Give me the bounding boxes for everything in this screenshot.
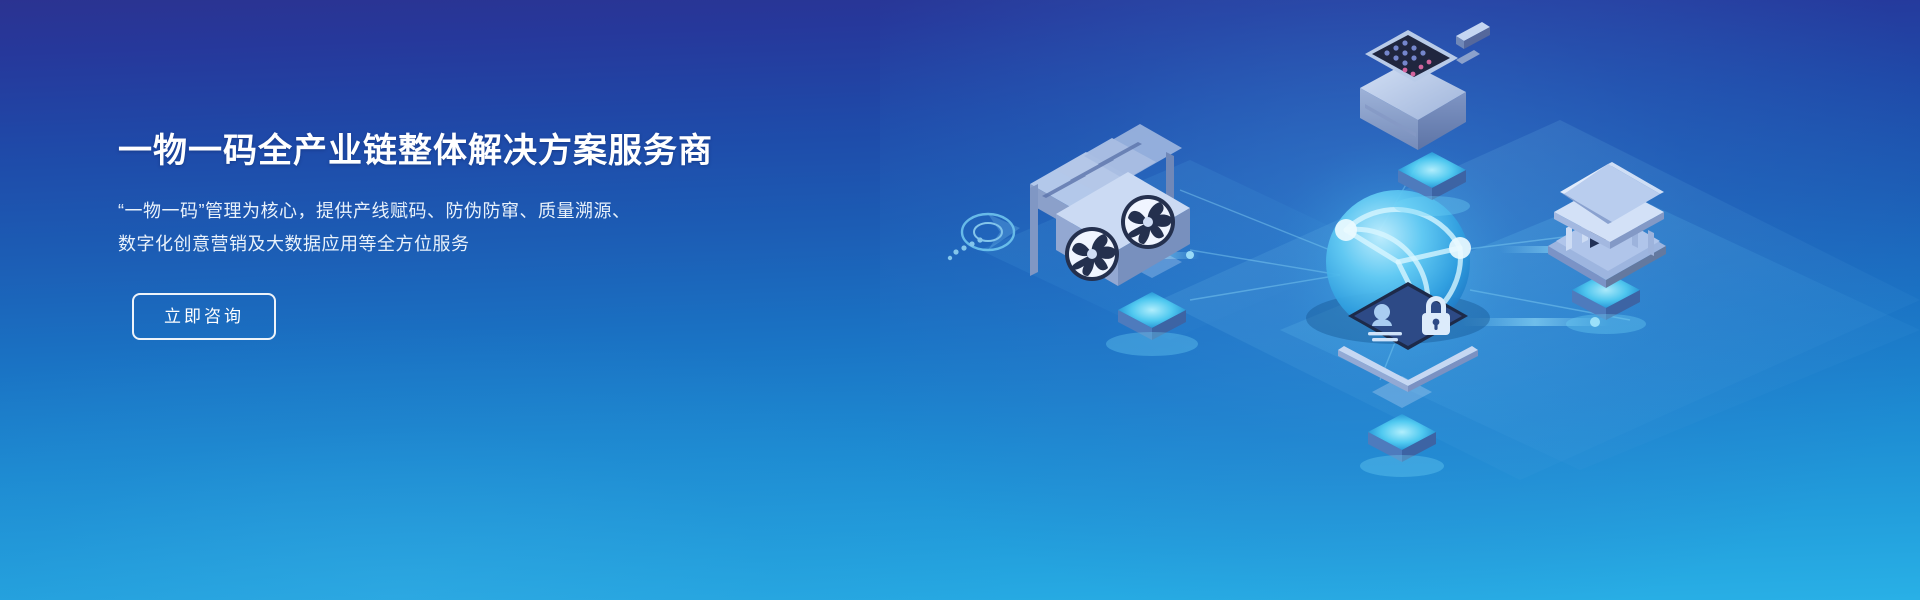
fan-blade-right	[1121, 195, 1175, 249]
hero-copy: 一物一码全产业链整体解决方案服务商 “一物一码”管理为核心，提供产线赋码、防伪防…	[118, 130, 838, 340]
server-fan-unit-icon	[948, 124, 1190, 340]
page-title: 一物一码全产业链整体解决方案服务商	[118, 130, 838, 173]
hero-banner: 一物一码全产业链整体解决方案服务商 “一物一码”管理为核心，提供产线赋码、防伪防…	[0, 0, 1920, 600]
hero-subtitle-line-2: 数字化创意营销及大数据应用等全方位服务	[118, 228, 838, 261]
background-glow-bottom	[0, 330, 1000, 600]
fan-blade-left	[1065, 227, 1119, 281]
hero-subtitle: “一物一码”管理为核心，提供产线赋码、防伪防窜、质量溯源、 数字化创意营销及大数…	[118, 195, 838, 262]
isometric-illustration	[860, 0, 1920, 600]
consult-now-button[interactable]: 立即咨询	[132, 293, 276, 340]
hero-subtitle-line-1: “一物一码”管理为核心，提供产线赋码、防伪防窜、质量溯源、	[118, 195, 838, 228]
